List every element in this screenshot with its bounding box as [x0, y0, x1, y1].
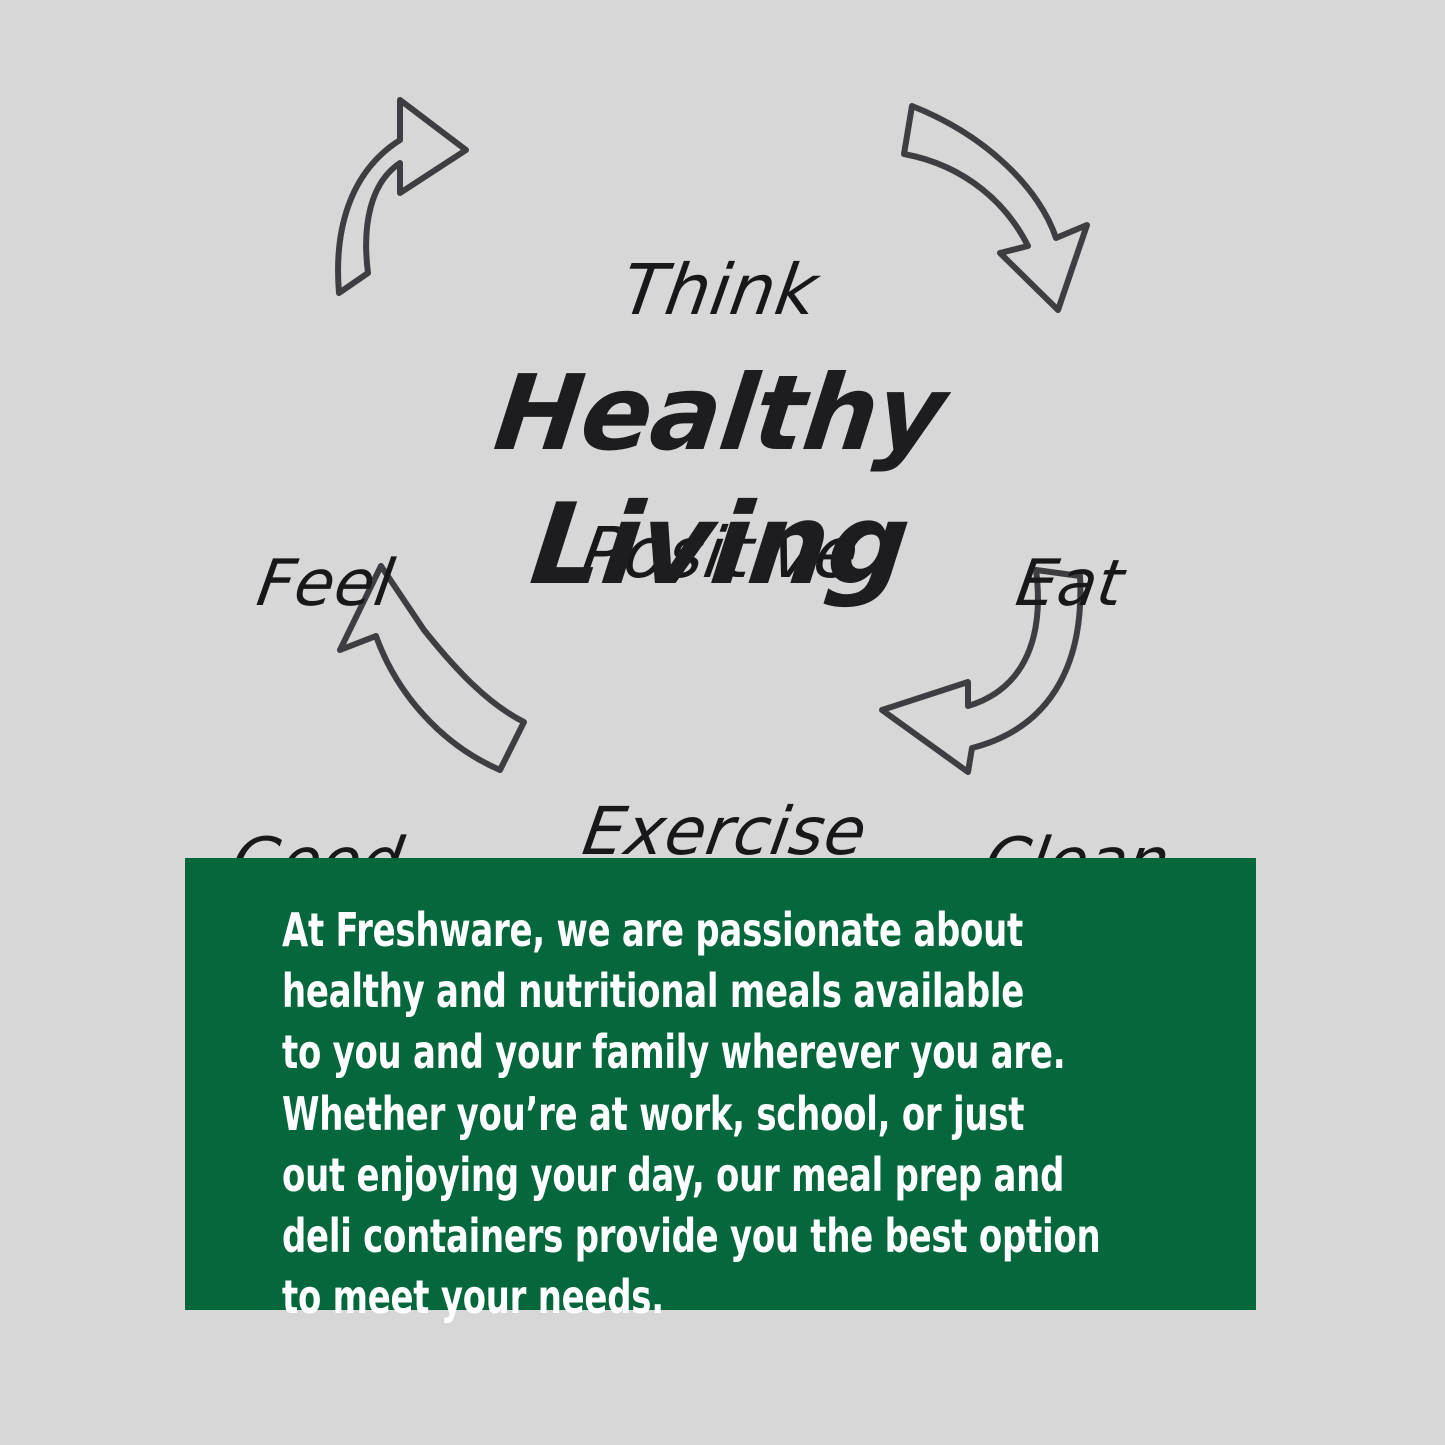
label-think-positive-line1: Think	[473, 247, 967, 335]
page-title-line1: Healthy	[414, 365, 1026, 463]
brand-statement-panel: At Freshware, we are passionate about he…	[185, 858, 1256, 1310]
poster-canvas: Think Positive Feel Good Eat Clean Exerc…	[0, 0, 1445, 1445]
page-title-line2: Living	[414, 493, 1027, 598]
brand-statement-text: At Freshware, we are passionate about he…	[282, 900, 1210, 1328]
page-title: Healthy Living	[420, 335, 1020, 628]
